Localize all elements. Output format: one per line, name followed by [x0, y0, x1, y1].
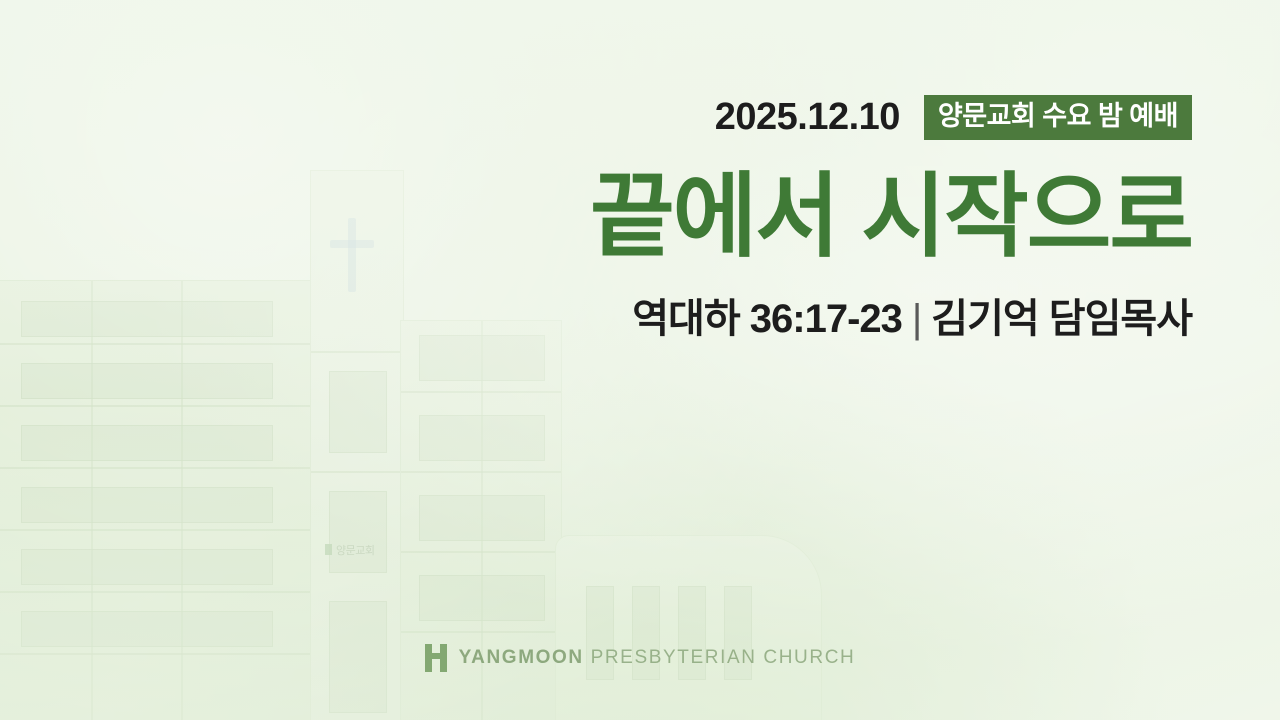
building-tower	[310, 170, 404, 720]
sermon-title-slide: 양문교회 2025.12.10 양문교회 수요 밤 예배 끝에서 시작으로 역대…	[0, 0, 1280, 720]
footer-logo: YANGMOON PRESBYTERIAN CHURCH	[0, 644, 1280, 672]
building-sign-text: 양문교회	[336, 545, 374, 557]
sermon-title: 끝에서 시작으로	[472, 168, 1192, 267]
building-sign-mark	[325, 544, 332, 555]
sermon-subtitle: 역대하 36:17-23|김기억 담임목사	[472, 295, 1192, 343]
building-sign: 양문교회	[325, 542, 374, 558]
speaker-name: 김기억 담임목사	[931, 297, 1192, 341]
service-date: 2025.12.10	[715, 98, 900, 136]
subtitle-separator: |	[902, 297, 931, 341]
cross-icon-bar	[330, 240, 374, 248]
slide-content: 2025.12.10 양문교회 수요 밤 예배 끝에서 시작으로 역대하 36:…	[472, 92, 1192, 343]
service-badge: 양문교회 수요 밤 예배	[924, 95, 1192, 140]
footer-name-rest: PRESBYTERIAN CHURCH	[584, 647, 856, 668]
footer-church-name: YANGMOON PRESBYTERIAN CHURCH	[459, 647, 856, 669]
footer-name-strong: YANGMOON	[459, 647, 584, 668]
cross-icon	[348, 218, 356, 292]
building-low-wing	[555, 535, 822, 720]
scripture-reference: 역대하 36:17-23	[632, 297, 902, 341]
headline-row: 2025.12.10 양문교회 수요 밤 예배	[472, 92, 1192, 142]
church-pillars-icon	[425, 644, 447, 672]
